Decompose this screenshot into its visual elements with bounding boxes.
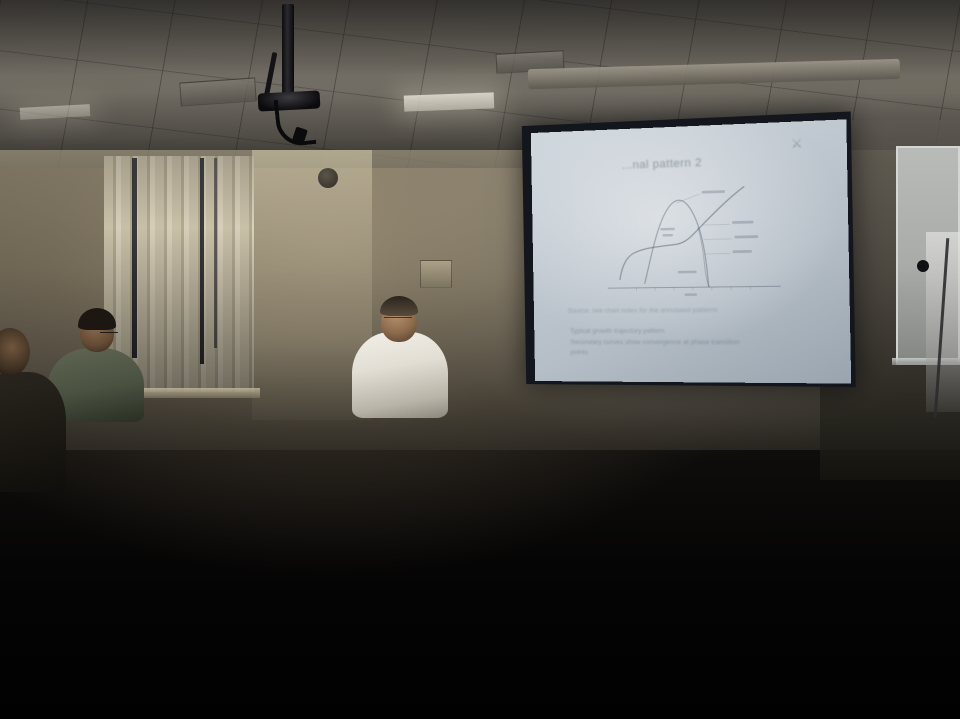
presenter — [352, 332, 448, 418]
projection-screen: ...nal pattern 2 ⚔ — [531, 119, 851, 383]
slide-chart — [598, 177, 790, 301]
attendee-far-left — [0, 372, 66, 492]
slide-bullets: Typical growth trajectory pattern Second… — [570, 326, 806, 360]
ceiling-light — [404, 92, 495, 111]
slide-title: ...nal pattern 2 — [622, 157, 702, 172]
wall-control-panel — [420, 260, 452, 288]
easel-knob — [917, 260, 929, 272]
projected-slide: ...nal pattern 2 ⚔ — [559, 140, 824, 363]
slide-bullet-item: Secondary curves show convergence at pha… — [570, 337, 806, 348]
slide-bullet-item: Typical growth trajectory pattern — [570, 326, 806, 338]
attendee-left-olive-glasses — [100, 332, 118, 338]
slide-logo-icon: ⚔ — [782, 136, 811, 156]
projector-mount-pole — [282, 4, 294, 96]
slide-caption-note: Source: see chart notes for the annotate… — [568, 305, 810, 317]
wall-speaker — [318, 168, 338, 188]
presenter-glasses — [384, 317, 412, 324]
photo-frame: ...nal pattern 2 ⚔ — [0, 0, 960, 719]
attendee-long-hair-left — [96, 316, 290, 562]
slide-bullet-item: points — [570, 349, 806, 361]
